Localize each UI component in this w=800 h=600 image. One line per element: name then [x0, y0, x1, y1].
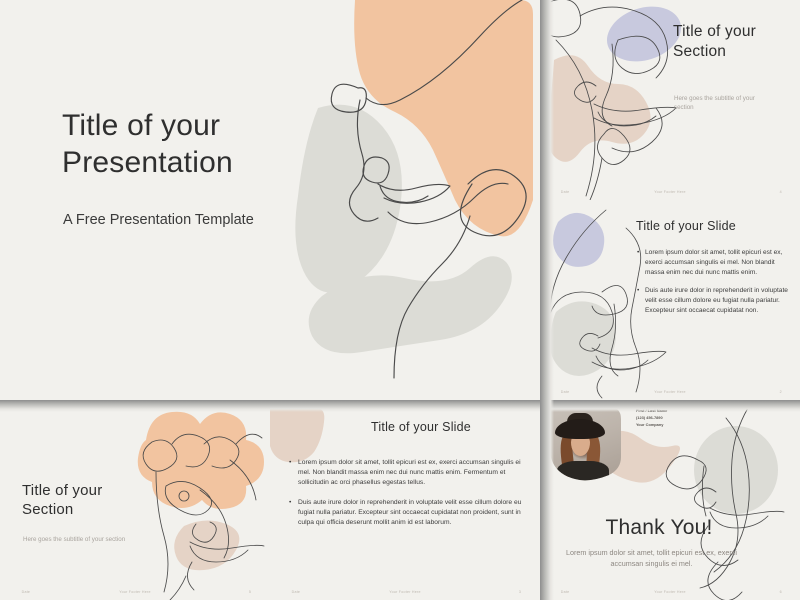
slide-footer: Date Your Footer Here 3	[270, 584, 540, 600]
footer-date: Date	[561, 190, 570, 194]
footer-page-number: 4	[780, 190, 782, 194]
section-slide-subtitle: Here goes the subtitle of your section	[674, 95, 774, 113]
title-slide[interactable]: Title of your Presentation A Free Presen…	[0, 0, 540, 400]
thank-you-subtitle: Lorem ipsum dolor sit amet, tollit epicu…	[554, 548, 749, 570]
content-slide-heading: Title of your Slide	[636, 219, 796, 233]
footer-date: Date	[561, 390, 570, 394]
bullet-item: Duis aute irure dolor in reprehenderit i…	[645, 286, 795, 316]
content-slide-middle-right[interactable]: Title of your Slide Lorem ipsum dolor si…	[540, 200, 800, 400]
thank-you-heading: Thank You!	[584, 516, 734, 540]
slide-footer: Date Your Footer Here 4	[540, 184, 800, 200]
content-slide-bottom-middle[interactable]: Title of your Slide Lorem ipsum dolor si…	[270, 400, 540, 600]
content-slide-heading: Title of your Slide	[326, 420, 516, 434]
section-slide-heading: Title of your Section	[22, 482, 142, 520]
footer-page-number: 3	[519, 590, 521, 594]
footer-page-number: 6	[780, 590, 782, 594]
footer-page-number: 5	[249, 590, 251, 594]
section-slide-subtitle: Here goes the subtitle of your section	[23, 536, 138, 545]
content-slide-bullet-list: Lorem ipsum dolor sit amet, tollit epicu…	[288, 458, 528, 537]
bullet-item: Lorem ipsum dolor sit amet, tollit epicu…	[645, 248, 795, 278]
footer-text: Your Footer Here	[389, 590, 420, 594]
footer-text: Your Footer Here	[654, 390, 685, 394]
section-slide-bottom-left[interactable]: Title of your Section Here goes the subt…	[0, 400, 270, 600]
section-slide-top-right[interactable]: Title of your Section Here goes the subt…	[540, 0, 800, 200]
footer-date: Date	[292, 590, 301, 594]
contact-block: First / Last Name (123) 456-7890 Your Co…	[636, 408, 706, 428]
footer-text: Your Footer Here	[119, 590, 150, 594]
thank-you-slide[interactable]: First / Last Name (123) 456-7890 Your Co…	[540, 400, 800, 600]
footer-date: Date	[22, 590, 31, 594]
contact-name: First / Last Name	[636, 408, 706, 415]
title-slide-subtitle: A Free Presentation Template	[63, 212, 363, 228]
title-slide-artwork	[0, 0, 540, 400]
gray-blob	[550, 301, 616, 376]
beige-blob	[270, 408, 324, 462]
beige-blob	[547, 55, 651, 162]
footer-page-number: 2	[780, 390, 782, 394]
photo-hat-brim	[555, 419, 605, 439]
footer-text: Your Footer Here	[654, 590, 685, 594]
section-slide-heading: Title of your Section	[673, 22, 788, 61]
contact-phone: (123) 456-7890	[636, 415, 706, 422]
bullet-item: Duis aute irure dolor in reprehenderit i…	[298, 498, 528, 529]
lavender-blob	[553, 213, 604, 267]
content-slide-bullet-list: Lorem ipsum dolor sit amet, tollit epicu…	[636, 248, 795, 324]
contact-company: Your Company	[636, 422, 706, 429]
bullet-item: Lorem ipsum dolor sit amet, tollit epicu…	[298, 458, 528, 489]
footer-date: Date	[561, 590, 570, 594]
slide-collage: Title of your Presentation A Free Presen…	[0, 0, 800, 600]
title-slide-heading: Title of your Presentation	[62, 108, 342, 181]
slide-footer: Date Your Footer Here 6	[540, 584, 800, 600]
footer-text: Your Footer Here	[654, 190, 685, 194]
beige-blob	[174, 520, 239, 570]
slide-footer: Date Your Footer Here 2	[540, 384, 800, 400]
slide-footer: Date Your Footer Here 5	[0, 584, 270, 600]
gray-blob	[694, 426, 778, 514]
